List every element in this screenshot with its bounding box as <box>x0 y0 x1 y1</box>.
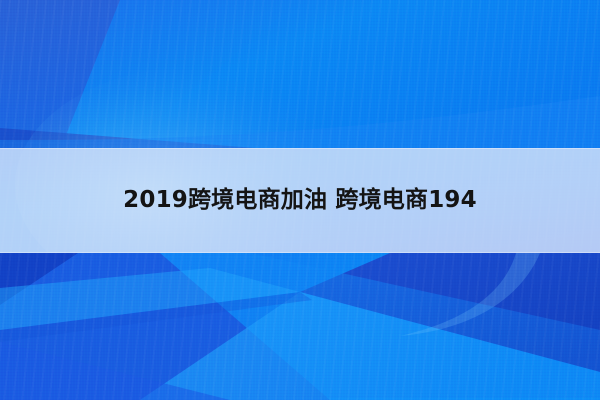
shape-upper-arc <box>0 96 600 150</box>
caption-title: 2019跨境电商加油 跨境电商194 <box>123 189 477 212</box>
shape-upper-bright-sweep <box>60 0 600 150</box>
shape-lower-arc-echo <box>400 253 540 336</box>
shape-lower-left-wedge <box>0 253 330 400</box>
shape-top-deep-band <box>0 128 255 148</box>
shape-upper-left-wedge <box>0 0 300 150</box>
decorative-banner: 2019跨境电商加油 跨境电商194 <box>0 0 600 400</box>
shape-lower-base <box>0 253 600 400</box>
shape-lower-left-sliver <box>0 253 78 305</box>
shape-lower-right-navy <box>300 253 600 372</box>
shape-bottom-left-corner <box>0 342 230 400</box>
shape-lower-diagonal-ribbon <box>0 253 600 398</box>
shape-lower-light-plane <box>140 292 600 400</box>
shape-lower-edge-accent <box>0 292 312 342</box>
band-bottom-hairline <box>0 252 600 253</box>
caption-band: 2019跨境电商加油 跨境电商194 <box>0 148 600 253</box>
shape-lower-cyan-sliver <box>0 268 300 330</box>
band-top-hairline <box>0 148 600 149</box>
